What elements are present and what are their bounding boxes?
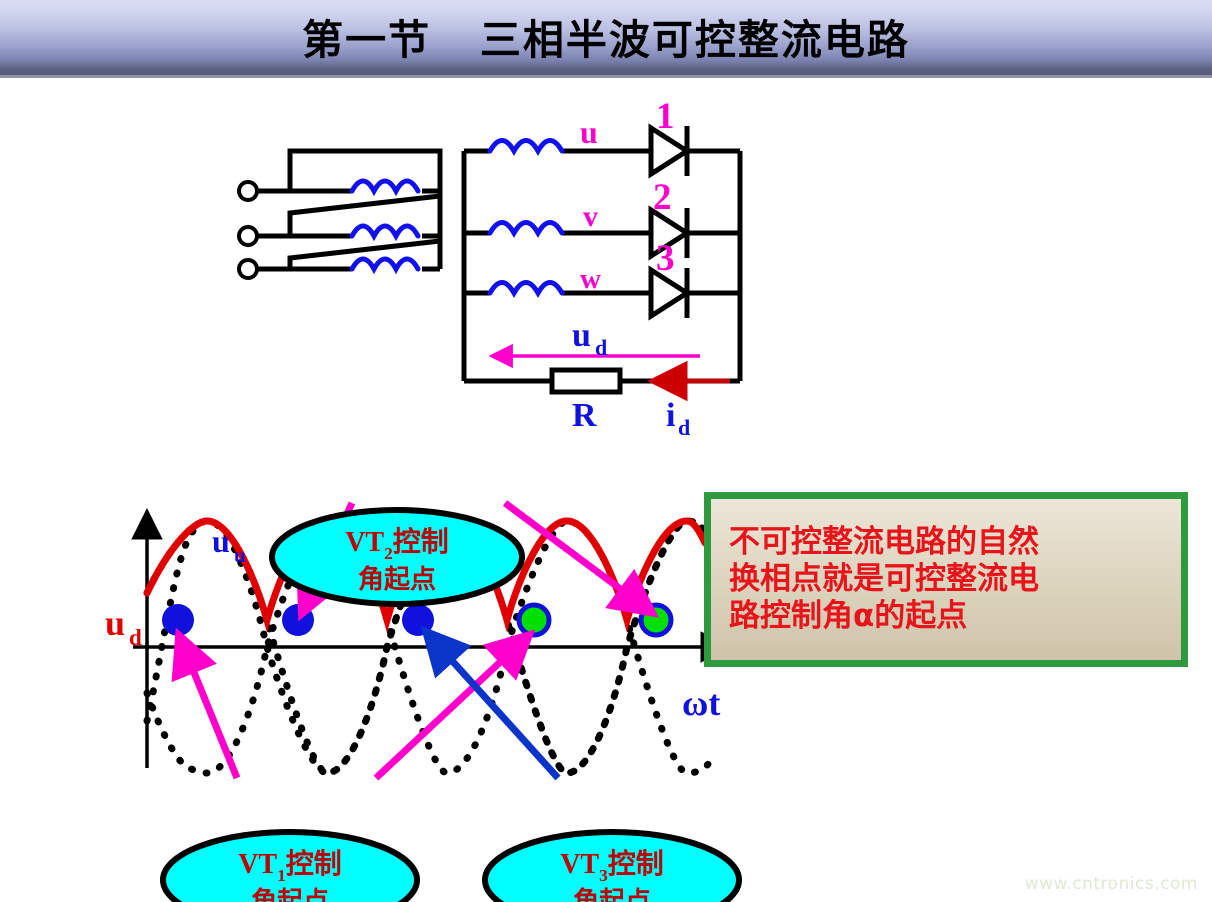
diode-label-3: 3 xyxy=(656,238,675,279)
phase-label-w: w xyxy=(580,263,601,295)
ud-axis-label: u d xyxy=(105,603,142,650)
ud-label-sub: d xyxy=(595,335,607,360)
callout-vt1-prefix: VT xyxy=(238,849,277,880)
curve-label-uu-main: u xyxy=(212,523,230,559)
ud-label: u d xyxy=(572,317,607,360)
page-title: 第一节 三相半波可控整流电路 xyxy=(0,0,1212,72)
curve-label-uu: u u xyxy=(212,523,246,567)
slide-graphics: u v w 1 2 3 u d R i d xyxy=(0,78,1212,902)
transformer-coils xyxy=(352,181,418,269)
ud-axis-label-main: u xyxy=(105,603,125,643)
curve-label-uu-sub: u xyxy=(234,543,246,567)
callout-vt1-line2: 角起点 xyxy=(251,886,329,902)
leader-vt2-to-marker5 xyxy=(505,503,650,611)
secondary-coils xyxy=(490,141,562,294)
callout-vt2-prefix: VT xyxy=(345,527,384,558)
callout-vt2-line1: VT2控制 xyxy=(345,526,449,563)
callout-vt1-rest: 控制 xyxy=(286,848,342,880)
marker-blue-3 xyxy=(402,604,434,636)
callout-vt2-sub: 2 xyxy=(384,544,393,563)
id-label-sub: d xyxy=(678,415,690,440)
callout-vt2-line2: 角起点 xyxy=(358,564,436,595)
callout-vt1[interactable]: VT1控制 角起点 xyxy=(163,832,417,902)
phase-label-u: u xyxy=(580,114,598,150)
id-label: i d xyxy=(666,397,690,440)
site-watermark: www.cntronics.com xyxy=(1025,874,1198,894)
diode-symbols xyxy=(651,126,687,318)
note-callout-text: 不可控整流电路的自然 换相点就是可控整流电 路控制角α的起点 xyxy=(729,524,1039,636)
marker-blue-1 xyxy=(162,604,194,636)
note-callout-inner: 不可控整流电路的自然 换相点就是可控整流电 路控制角α的起点 xyxy=(711,499,1181,660)
id-label-main: i xyxy=(666,397,675,434)
callout-vt2[interactable]: VT2控制 角起点 xyxy=(272,510,522,604)
commutation-markers xyxy=(162,604,671,636)
callout-vt3-prefix: VT xyxy=(560,849,599,880)
note-callout-box: 不可控整流电路的自然 换相点就是可控整流电 路控制角α的起点 xyxy=(704,492,1188,667)
leader-vt3-to-marker3 xyxy=(428,634,558,778)
omega-t-label: ωt xyxy=(682,683,720,723)
callout-vt3-sub: 3 xyxy=(599,866,608,885)
slide-title-bar: 第一节 三相半波可控整流电路 xyxy=(0,0,1212,78)
callout-vt3-line1: VT3控制 xyxy=(560,848,664,885)
resistor-symbol xyxy=(552,370,620,392)
callout-vt1-sub: 1 xyxy=(277,866,286,885)
diode-label-1: 1 xyxy=(656,96,675,137)
callout-vt2-rest: 控制 xyxy=(393,526,449,558)
ud-label-main: u xyxy=(572,317,591,354)
callout-vt1-line1: VT1控制 xyxy=(238,848,342,885)
callout-vt3-line2: 角起点 xyxy=(573,886,651,902)
ud-axis-label-sub: d xyxy=(129,625,142,650)
marker-green-1 xyxy=(519,605,549,635)
resistor-label: R xyxy=(572,397,597,434)
slide-body: u v w 1 2 3 u d R i d xyxy=(0,78,1212,902)
marker-blue-2 xyxy=(282,604,314,636)
leader-vt1-to-marker1 xyxy=(180,638,237,778)
callout-vt3[interactable]: VT3控制 角起点 xyxy=(485,832,739,902)
callout-vt3-rest: 控制 xyxy=(608,848,664,880)
diode-label-2: 2 xyxy=(653,177,672,218)
phase-label-v: v xyxy=(583,200,598,233)
